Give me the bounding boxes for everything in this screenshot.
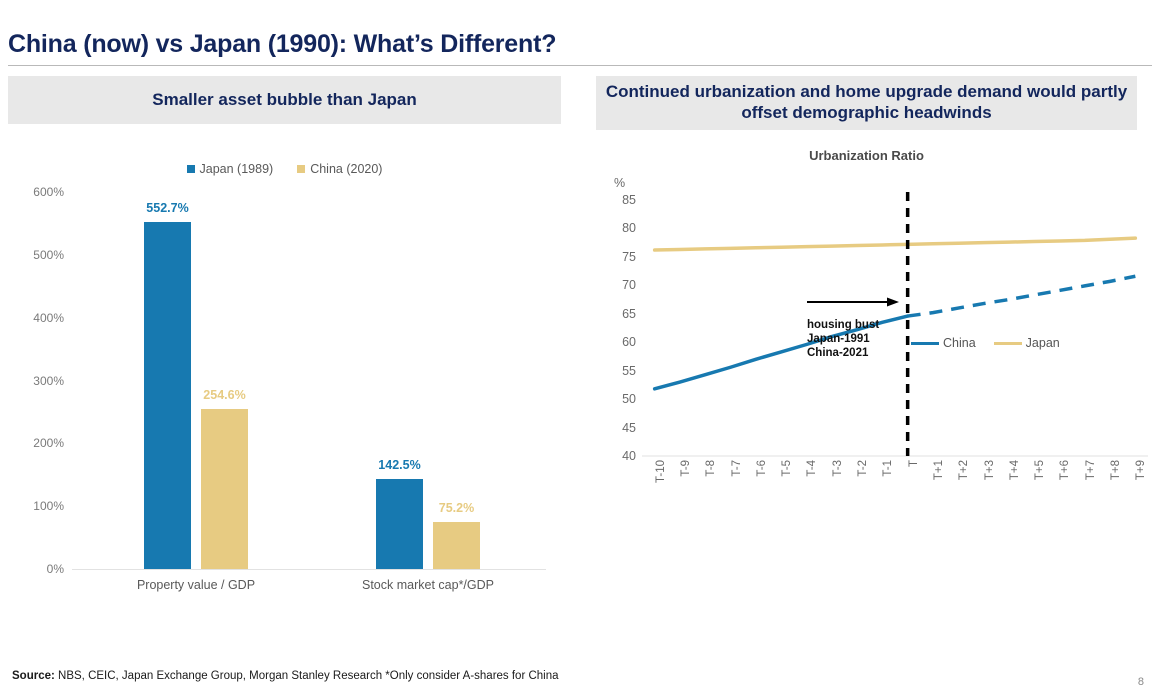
housing-bust-arrow-icon — [807, 296, 899, 308]
line-y-tick-label: 55 — [622, 364, 636, 378]
bar-value-label: 142.5% — [378, 458, 420, 472]
line-x-tick-label: T+9 — [1135, 460, 1147, 480]
line-y-tick-label: 50 — [622, 392, 636, 406]
bar-chart-y-axis: 0%100%200%300%400%500%600% — [8, 192, 72, 569]
line-x-tick-label: T-8 — [705, 460, 717, 477]
bar-legend-label: Japan (1989) — [200, 162, 274, 176]
bar-group: 142.5%75.2% — [376, 479, 480, 569]
asset-bubble-bar-chart: Japan (1989)China (2020) 0%100%200%300%4… — [8, 136, 561, 606]
line-legend-label: Japan — [1026, 336, 1060, 350]
line-x-tick-label: T — [908, 460, 920, 467]
line-chart-y-axis: 40455055606570758085 — [596, 200, 642, 456]
source-footer: Source: NBS, CEIC, Japan Exchange Group,… — [12, 670, 559, 682]
line-x-tick-label: T+7 — [1085, 460, 1097, 480]
legend-swatch-icon — [297, 165, 305, 173]
bar-legend-item-1: China (2020) — [297, 162, 382, 176]
line-y-tick-label: 45 — [622, 421, 636, 435]
bar-value-label: 552.7% — [146, 201, 188, 215]
line-chart-y-unit: % — [614, 176, 625, 190]
legend-line-icon — [994, 342, 1022, 345]
line-chart-title: Urbanization Ratio — [596, 148, 1137, 163]
line-x-tick-label: T-1 — [882, 460, 894, 477]
legend-line-icon — [911, 342, 939, 345]
annotation-line-2: Japan-1991 — [807, 332, 879, 346]
slide: China (now) vs Japan (1990): What’s Diff… — [0, 0, 1160, 696]
bar-category-label: Property value / GDP — [137, 578, 255, 592]
line-y-tick-label: 85 — [622, 193, 636, 207]
line-x-tick-label: T-10 — [655, 460, 667, 483]
line-legend-label: China — [943, 336, 976, 350]
page-title: China (now) vs Japan (1990): What’s Diff… — [8, 30, 556, 59]
bar-legend-label: China (2020) — [310, 162, 382, 176]
bar-value-label: 254.6% — [203, 388, 245, 402]
housing-bust-annotation: housing bust Japan-1991 China-2021 — [807, 318, 879, 360]
line-x-tick-label: T+1 — [933, 460, 945, 480]
bar-chart-baseline — [72, 569, 546, 570]
line-x-tick-label: T+3 — [984, 460, 996, 480]
bar-y-tick-label: 600% — [33, 185, 64, 199]
line-y-tick-label: 40 — [622, 449, 636, 463]
bar-category-label: Stock market cap*/GDP — [362, 578, 494, 592]
line-x-tick-label: T+2 — [958, 460, 970, 480]
line-x-tick-label: T+4 — [1009, 460, 1021, 480]
bar-japan[interactable]: 142.5% — [376, 479, 423, 569]
bar-fill — [433, 522, 480, 569]
left-panel-header: Smaller asset bubble than Japan — [8, 76, 561, 124]
line-legend-item-0: China — [911, 336, 976, 350]
bar-value-label: 75.2% — [439, 501, 474, 515]
line-x-tick-label: T-3 — [832, 460, 844, 477]
line-chart-svg — [642, 200, 1148, 456]
line-x-tick-label: T-5 — [781, 460, 793, 477]
line-series-japan — [655, 238, 1136, 250]
right-panel-header: Continued urbanization and home upgrade … — [596, 76, 1137, 130]
line-x-tick-label: T-6 — [756, 460, 768, 477]
line-y-tick-label: 75 — [622, 250, 636, 264]
bar-fill — [376, 479, 423, 569]
line-y-tick-label: 80 — [622, 221, 636, 235]
bar-y-tick-label: 200% — [33, 436, 64, 450]
bar-y-tick-label: 400% — [33, 311, 64, 325]
left-panel: Smaller asset bubble than Japan Japan (1… — [8, 76, 561, 656]
annotation-line-1: housing bust — [807, 318, 879, 332]
legend-swatch-icon — [187, 165, 195, 173]
bar-y-tick-label: 500% — [33, 248, 64, 262]
bar-y-tick-label: 100% — [33, 499, 64, 513]
bar-fill — [144, 222, 191, 569]
line-y-tick-label: 65 — [622, 307, 636, 321]
line-x-tick-label: T-9 — [680, 460, 692, 477]
line-x-tick-label: T+8 — [1110, 460, 1122, 480]
line-chart-plot-area — [642, 200, 1148, 456]
bar-group: 552.7%254.6% — [144, 222, 248, 569]
annotation-line-3: China-2021 — [807, 346, 879, 360]
urbanization-line-chart: Urbanization Ratio % 4045505560657075808… — [596, 138, 1152, 608]
line-x-tick-label: T+5 — [1034, 460, 1046, 480]
line-x-tick-label: T-7 — [731, 460, 743, 477]
bar-china[interactable]: 75.2% — [433, 522, 480, 569]
line-y-tick-label: 70 — [622, 278, 636, 292]
line-y-tick-label: 60 — [622, 335, 636, 349]
bar-chart-legend: Japan (1989)China (2020) — [8, 162, 561, 176]
bar-china[interactable]: 254.6% — [201, 409, 248, 569]
line-chart-legend: ChinaJapan — [911, 336, 1060, 350]
bar-y-tick-label: 0% — [47, 562, 64, 576]
page-number: 8 — [1138, 676, 1144, 688]
line-x-tick-label: T-2 — [857, 460, 869, 477]
bar-chart-plot-area: 552.7%254.6%142.5%75.2% — [78, 192, 538, 569]
line-chart-x-axis: T-10T-9T-8T-7T-6T-5T-4T-3T-2T-1TT+1T+2T+… — [642, 458, 1148, 518]
title-divider — [8, 65, 1152, 66]
bar-legend-item-0: Japan (1989) — [187, 162, 274, 176]
bar-fill — [201, 409, 248, 569]
line-x-tick-label: T-4 — [806, 460, 818, 477]
bar-japan[interactable]: 552.7% — [144, 222, 191, 569]
line-x-tick-label: T+6 — [1059, 460, 1071, 480]
line-legend-item-1: Japan — [994, 336, 1060, 350]
bar-y-tick-label: 300% — [33, 374, 64, 388]
line-series-china-forecast — [908, 276, 1136, 316]
source-text: NBS, CEIC, Japan Exchange Group, Morgan … — [58, 670, 559, 682]
source-label: Source: — [12, 670, 55, 682]
right-panel: Continued urbanization and home upgrade … — [596, 76, 1152, 656]
